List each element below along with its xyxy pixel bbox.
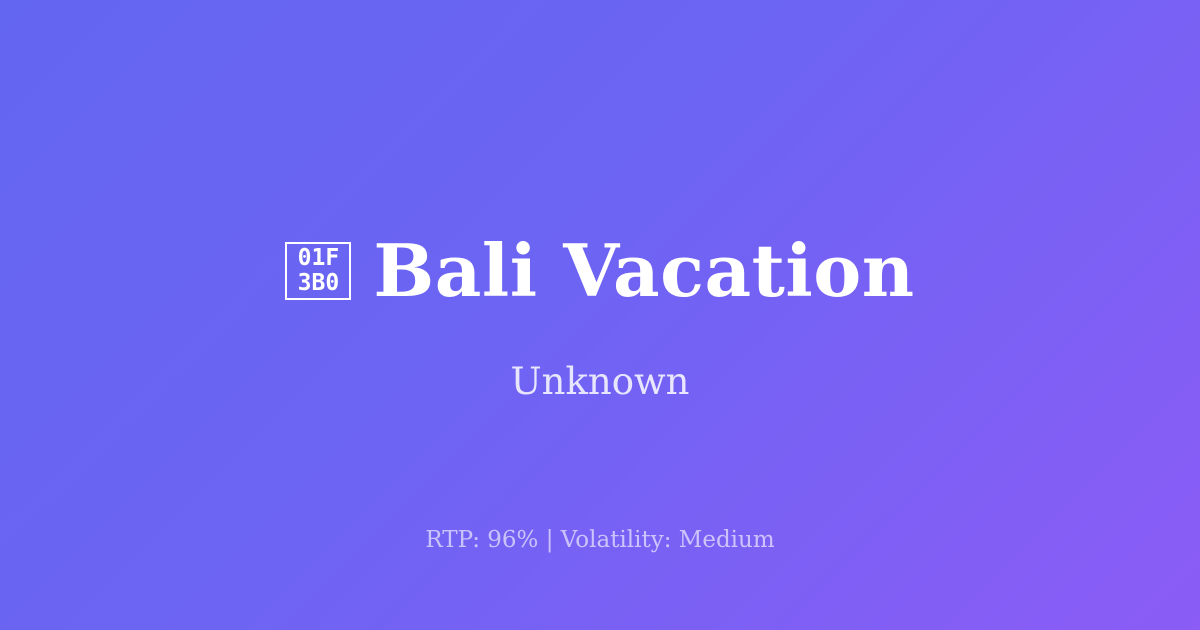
slot-machine-icon-codepoint-bottom: 3B0 [298,271,340,296]
game-preview-card: 01F 3B0 Bali Vacation Unknown RTP: 96% |… [0,0,1200,630]
game-stats: RTP: 96% | Volatility: Medium [0,529,1200,552]
title-row: 01F 3B0 Bali Vacation [0,228,1200,314]
game-title: Bali Vacation [373,235,914,307]
slot-machine-icon: 01F 3B0 [285,242,351,300]
slot-machine-icon-codepoint-top: 01F [298,246,340,271]
game-provider: Unknown [0,363,1200,400]
